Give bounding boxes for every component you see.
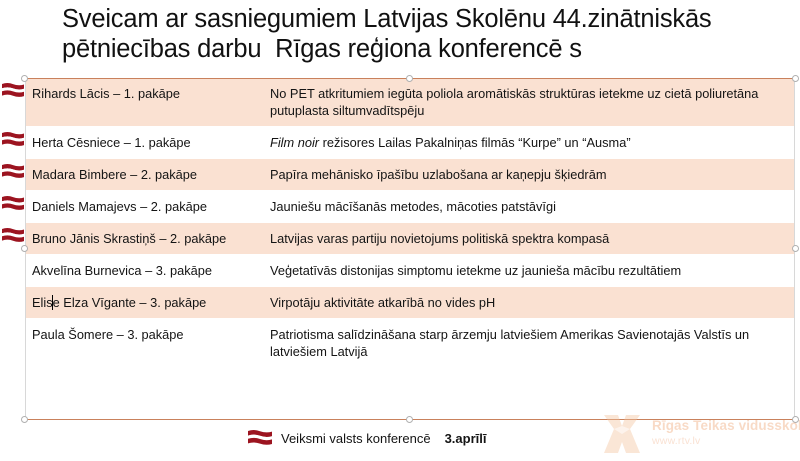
- school-star-logo-icon: [600, 412, 644, 456]
- table-row[interactable]: Akvelīna Burnevica – 3. pakāpeVeģetatīvā…: [25, 255, 795, 287]
- topic-italic-term: Film noir: [270, 135, 319, 150]
- latvia-flag-icon: [2, 228, 24, 243]
- cell-research-topic[interactable]: Film noir režisores Lailas Pakalniņas fi…: [262, 127, 795, 158]
- latvia-flag-icon: [2, 196, 24, 211]
- resize-handle-bottom-center[interactable]: [406, 416, 413, 423]
- cell-research-topic[interactable]: Jauniešu mācīšanās metodes, mācoties pat…: [262, 191, 795, 222]
- school-watermark: Rīgas Teikas vidusskola www.rtv.lv: [600, 410, 800, 458]
- latvia-flag-icon: [2, 132, 24, 147]
- table-row[interactable]: Daniels Mamajevs – 2. pakāpeJauniešu māc…: [25, 191, 795, 223]
- resize-handle-bottom-right[interactable]: [792, 416, 799, 423]
- cell-participant-name[interactable]: Herta Cēsniece – 1. pakāpe: [25, 127, 262, 158]
- text-caret: [52, 295, 53, 310]
- cell-participant-name[interactable]: Rihards Lācis – 1. pakāpe: [25, 78, 262, 119]
- watermark-url: www.rtv.lv: [652, 435, 700, 447]
- watermark-school-name: Rīgas Teikas vidusskola: [652, 418, 800, 433]
- latvia-flag-icon: [2, 83, 24, 98]
- cell-research-topic[interactable]: Virpotāju aktivitāte atkarībā no vides p…: [262, 287, 795, 318]
- footer-line: Veiksmi valsts konferencē 3.aprīlī: [248, 430, 487, 446]
- table-row[interactable]: Rihards Lācis – 1. pakāpeNo PET atkritum…: [25, 78, 795, 127]
- table-row[interactable]: Madara Bimbere – 2. pakāpePapīra mehānis…: [25, 159, 795, 191]
- resize-handle-bottom-left[interactable]: [21, 416, 28, 423]
- cell-research-topic[interactable]: Latvijas varas partiju novietojums polit…: [262, 223, 795, 254]
- table-row[interactable]: Elise Elza Vīgante – 3. pakāpeVirpotāju …: [25, 287, 795, 319]
- cell-research-topic[interactable]: Veģetatīvās distonijas simptomu ietekme …: [262, 255, 795, 286]
- slide-title: Sveicam ar sasniegumiem Latvijas Skolēnu…: [62, 4, 762, 64]
- table-row[interactable]: Bruno Jānis Skrastiņš – 2. pakāpeLatvija…: [25, 223, 795, 255]
- cell-participant-name[interactable]: Madara Bimbere – 2. pakāpe: [25, 159, 262, 190]
- cell-research-topic[interactable]: Patriotisma salīdzināšana starp ārzemju …: [262, 319, 795, 367]
- latvia-flag-icon: [2, 164, 24, 179]
- cell-research-topic[interactable]: Papīra mehānisko īpašību uzlabošana ar k…: [262, 159, 795, 190]
- cell-participant-name[interactable]: Paula Šomere – 3. pakāpe: [25, 319, 262, 360]
- cell-participant-name[interactable]: Bruno Jānis Skrastiņš – 2. pakāpe: [25, 223, 262, 254]
- results-table[interactable]: Rihards Lācis – 1. pakāpeNo PET atkritum…: [25, 78, 795, 368]
- latvia-flag-icon: [248, 430, 272, 446]
- table-row[interactable]: Herta Cēsniece – 1. pakāpeFilm noir reži…: [25, 127, 795, 159]
- footer-message: Veiksmi valsts konferencē: [281, 431, 431, 446]
- cell-participant-name[interactable]: Daniels Mamajevs – 2. pakāpe: [25, 191, 262, 222]
- cell-participant-name[interactable]: Elise Elza Vīgante – 3. pakāpe: [25, 287, 262, 318]
- footer-date: 3.aprīlī: [445, 431, 487, 446]
- table-row[interactable]: Paula Šomere – 3. pakāpePatriotisma salī…: [25, 319, 795, 368]
- cell-research-topic[interactable]: No PET atkritumiem iegūta poliola aromāt…: [262, 78, 795, 126]
- cell-participant-name[interactable]: Akvelīna Burnevica – 3. pakāpe: [25, 255, 262, 286]
